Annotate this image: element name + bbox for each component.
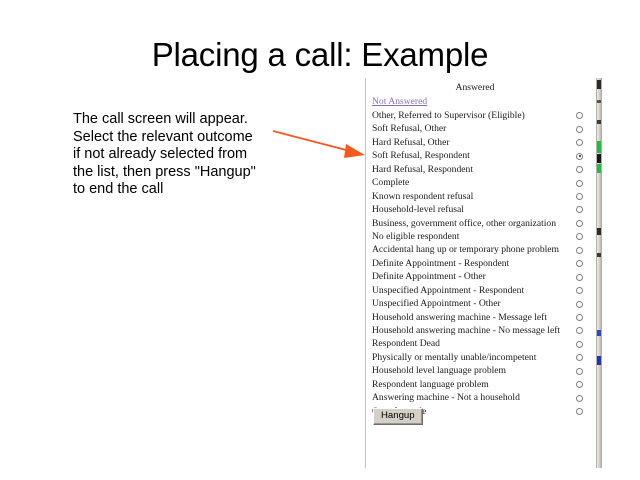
outcome-row[interactable]: Unspecified Appointment - Other — [366, 297, 596, 310]
outcome-row[interactable]: Household level language problem — [366, 364, 596, 377]
outcome-label: Answering machine - Not a household — [372, 391, 520, 404]
outcome-row[interactable]: Household answering machine - No message… — [366, 324, 596, 337]
not-answered-link[interactable]: Not Answered — [372, 96, 427, 107]
outcome-label: Definite Appointment - Other — [372, 270, 486, 283]
instruction-text: The call screen will appear. Select the … — [73, 111, 288, 199]
outcome-label: Respondent language problem — [372, 378, 489, 391]
outcome-radio-button[interactable] — [576, 341, 583, 348]
outcome-radio-button[interactable] — [576, 381, 583, 388]
edge-artifact — [597, 100, 601, 103]
edge-artifact — [597, 120, 601, 124]
outcome-radio-button[interactable] — [576, 166, 583, 173]
outcome-radio-button[interactable] — [576, 180, 583, 187]
outcome-row[interactable]: Physically or mentally unable/incompeten… — [366, 351, 596, 364]
slide-canvas: Placing a call: Example The call screen … — [0, 0, 640, 480]
outcome-row[interactable]: Household answering machine - Message le… — [366, 311, 596, 324]
outcome-row[interactable]: Business, government office, other organ… — [366, 217, 596, 230]
outcome-row[interactable]: Respondent language problem — [366, 378, 596, 391]
outcome-radio-button[interactable] — [576, 408, 583, 415]
outcome-row[interactable]: Definite Appointment - Respondent — [366, 257, 596, 270]
outcome-label: Soft Refusal, Other — [372, 122, 446, 135]
outcome-label: Other, Referred to Supervisor (Eligible) — [372, 109, 525, 122]
call-screen-screenshot: Answered Not Answered Other, Referred to… — [365, 78, 597, 468]
outcome-row[interactable]: Soft Refusal, Other — [366, 122, 596, 135]
outcome-label: Soft Refusal, Respondent — [372, 149, 470, 162]
outcome-row[interactable]: Hard Refusal, Respondent — [366, 163, 596, 176]
outcome-radio-button[interactable] — [576, 247, 583, 254]
outcome-radio-button[interactable] — [576, 193, 583, 200]
answered-header-label: Answered — [366, 82, 584, 93]
outcome-radio-button[interactable] — [576, 220, 583, 227]
outcome-radio-button[interactable] — [576, 112, 583, 119]
outcome-row[interactable]: Other, Referred to Supervisor (Eligible) — [366, 109, 596, 122]
outcome-label: Unspecified Appointment - Respondent — [372, 284, 524, 297]
outcome-radio-button[interactable] — [576, 274, 583, 281]
edge-artifact — [597, 154, 601, 163]
outcome-radio-button[interactable] — [576, 314, 583, 321]
outcome-row[interactable]: Complete — [366, 176, 596, 189]
outcome-label: Household answering machine - No message… — [372, 324, 560, 337]
outcome-row[interactable]: Accidental hang up or temporary phone pr… — [366, 243, 596, 256]
outcome-label: Household answering machine - Message le… — [372, 311, 547, 324]
edge-artifact — [597, 141, 601, 153]
outcome-row[interactable]: Respondent Dead — [366, 337, 596, 350]
outcome-label: Hard Refusal, Respondent — [372, 163, 473, 176]
outcome-radio-group: Other, Referred to Supervisor (Eligible)… — [366, 109, 596, 418]
edge-artifact — [597, 253, 601, 257]
outcome-row[interactable]: Unspecified Appointment - Respondent — [366, 284, 596, 297]
outcome-radio-button[interactable] — [576, 153, 583, 160]
outcome-label: Household-level refusal — [372, 203, 464, 216]
outcome-radio-button[interactable] — [576, 368, 583, 375]
outcome-row[interactable]: Soft Refusal, Respondent — [366, 149, 596, 162]
outcome-radio-button[interactable] — [576, 287, 583, 294]
edge-artifact — [597, 356, 601, 365]
edge-artifact — [597, 80, 601, 89]
outcome-label: Accidental hang up or temporary phone pr… — [372, 243, 559, 256]
outcome-radio-button[interactable] — [576, 354, 583, 361]
outcome-label: Known respondent refusal — [372, 190, 473, 203]
outcome-label: Unspecified Appointment - Other — [372, 297, 501, 310]
outcome-radio-button[interactable] — [576, 260, 583, 267]
edge-artifact — [597, 164, 601, 173]
edge-artifact — [597, 330, 601, 336]
outcome-radio-button[interactable] — [576, 395, 583, 402]
page-title: Placing a call: Example — [0, 36, 640, 74]
screenshot-edge-strip — [597, 78, 602, 468]
outcome-row[interactable]: Hard Refusal, Other — [366, 136, 596, 149]
outcome-row[interactable]: Definite Appointment - Other — [366, 270, 596, 283]
outcome-radio-button[interactable] — [576, 139, 583, 146]
outcome-label: Physically or mentally unable/incompeten… — [372, 351, 536, 364]
outcome-label: Household level language problem — [372, 364, 506, 377]
outcome-label: Hard Refusal, Other — [372, 136, 450, 149]
outcome-row[interactable]: Answering machine - Not a household — [366, 391, 596, 404]
outcome-row[interactable]: Known respondent refusal — [366, 190, 596, 203]
outcome-radio-button[interactable] — [576, 301, 583, 308]
outcome-radio-button[interactable] — [576, 327, 583, 334]
outcome-row[interactable]: No eligible respondent — [366, 230, 596, 243]
outcome-row[interactable]: Household-level refusal — [366, 203, 596, 216]
outcome-label: No eligible respondent — [372, 230, 459, 243]
outcome-label: Business, government office, other organ… — [372, 217, 556, 230]
outcome-label: Respondent Dead — [372, 337, 440, 350]
outcome-radio-button[interactable] — [576, 206, 583, 213]
hangup-button[interactable]: Hangup — [373, 408, 423, 425]
outcome-radio-button[interactable] — [576, 233, 583, 240]
edge-artifact — [597, 228, 601, 235]
outcome-label: Complete — [372, 176, 409, 189]
outcome-radio-button[interactable] — [576, 126, 583, 133]
outcome-label: Definite Appointment - Respondent — [372, 257, 509, 270]
